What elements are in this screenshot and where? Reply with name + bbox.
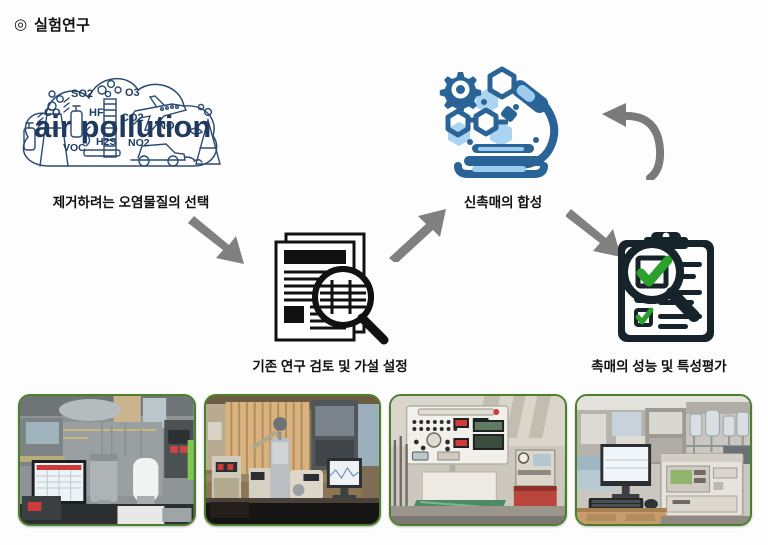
microscope-molecule-icon [428, 62, 573, 182]
slide-canvas: ◎ 실험연구 [0, 0, 768, 545]
photo-1[interactable] [18, 394, 196, 526]
photo-4[interactable] [575, 394, 753, 526]
photo-gallery [18, 394, 752, 522]
page-title-text: 실험연구 [34, 14, 90, 35]
step-2-label: 기존 연구 검토 및 가설 설정 [206, 355, 454, 375]
step-1-label: 제거하려는 오염물질의 선택 [0, 191, 262, 211]
arrow-down-right-1 [188, 212, 258, 270]
arrow-loop-back [596, 98, 672, 180]
page-title: ◎ 실험연구 [14, 14, 90, 35]
photo-2[interactable] [204, 394, 382, 526]
cloud-label-so2: SO2 [71, 88, 93, 100]
cloud-main-text: air pollution [34, 109, 211, 144]
step-4-label: 촉매의 성능 및 특성평가 [550, 355, 768, 375]
bullet-icon: ◎ [14, 17, 27, 32]
air-pollution-cloud-icon: CO SO2 O3 HF CO2 NO VOC H2S NO2 air poll… [14, 54, 224, 179]
document-magnifier-icon [262, 228, 390, 346]
step-3-label: 신촉매의 합성 [418, 191, 588, 211]
photo-3[interactable] [389, 394, 567, 526]
cloud-label-o3: O3 [125, 87, 140, 99]
clipboard-checklist-magnifier-icon [608, 228, 723, 346]
